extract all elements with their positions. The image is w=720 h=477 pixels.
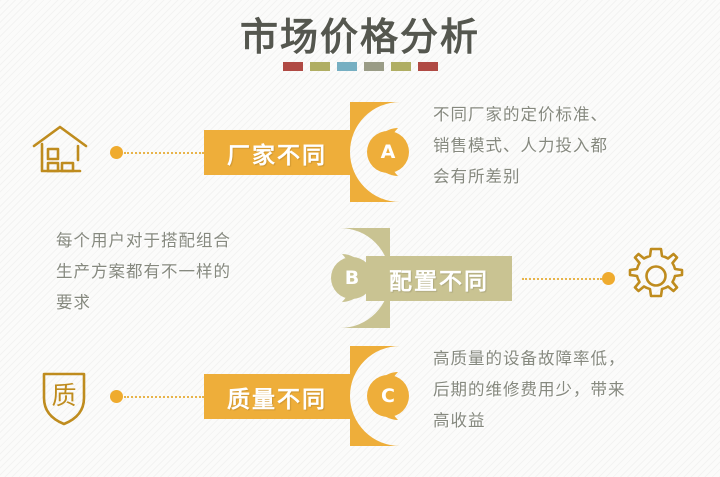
divider-dash-3 <box>337 62 357 71</box>
arc-cluster-c: C <box>340 346 438 446</box>
connector-dot-c <box>110 390 123 403</box>
row-b: 每个用户对于搭配组合 生产方案都有不一样的 要求 B 配置不同 <box>0 228 720 328</box>
badge-letter-a: A <box>381 141 396 163</box>
badge-letter-b: B <box>345 267 359 289</box>
badge-letter-c: C <box>381 385 395 407</box>
shield-glyph: 质 <box>51 381 76 410</box>
label-text-a: 厂家不同 <box>227 136 327 170</box>
arc-cluster-a: A <box>340 102 438 202</box>
divider-dash-4 <box>364 62 384 71</box>
connector-line-b <box>522 278 602 280</box>
badge-c: C <box>368 376 408 416</box>
label-bar-b[interactable]: 配置不同 <box>366 256 512 301</box>
gear-icon <box>624 244 688 308</box>
divider-dash-6 <box>418 62 438 71</box>
connector-dot-a <box>110 146 123 159</box>
label-bar-c[interactable]: 质量不同 <box>204 374 350 419</box>
paragraph-a: 不同厂家的定价标准、 销售模式、人力投入都 会有所差别 <box>433 99 683 192</box>
paragraph-b: 每个用户对于搭配组合 生产方案都有不一样的 要求 <box>56 225 306 318</box>
house-icon <box>28 118 92 182</box>
badge-a: A <box>368 132 408 172</box>
connector-line-a <box>124 152 204 154</box>
label-text-c: 质量不同 <box>227 380 327 414</box>
label-text-b: 配置不同 <box>389 262 489 296</box>
row-a: 厂家不同 A 不同厂家的定价标准、 销售模式、人力投入都 会有所差别 <box>0 102 720 202</box>
title-divider <box>0 62 720 71</box>
divider-dash-5 <box>391 62 411 71</box>
shield-quality-icon: 质 <box>32 362 96 426</box>
paragraph-c: 高质量的设备故障率低， 后期的维修费用少，带来 高收益 <box>433 343 688 436</box>
connector-line-c <box>124 396 204 398</box>
divider-dash-2 <box>310 62 330 71</box>
infographic-canvas: 市场价格分析 厂家不同 <box>0 0 720 477</box>
divider-dash-1 <box>283 62 303 71</box>
row-c: 质 质量不同 C 高质量的设备故障率低， 后期的维修费用少，带来 高收益 <box>0 346 720 446</box>
label-bar-a[interactable]: 厂家不同 <box>204 130 350 175</box>
connector-dot-b <box>602 272 615 285</box>
page-title: 市场价格分析 <box>0 6 720 61</box>
